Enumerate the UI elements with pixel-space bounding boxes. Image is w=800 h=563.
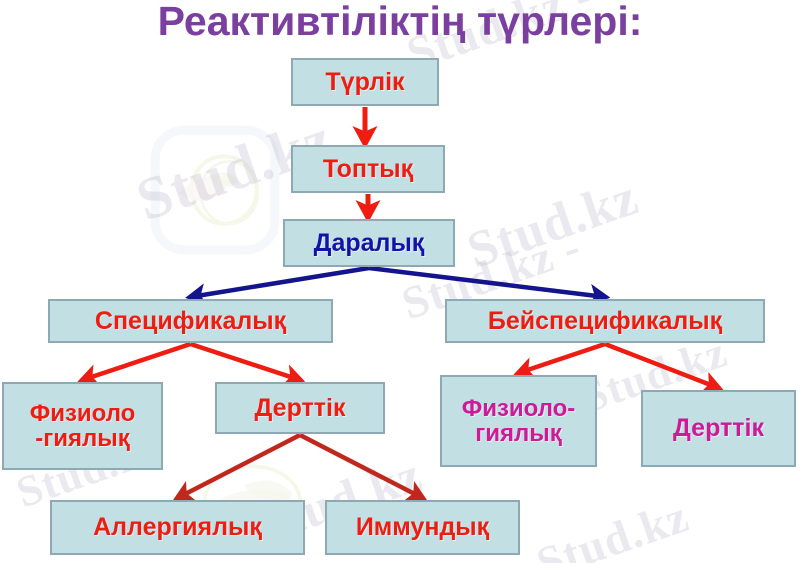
arrow-spetsifikalyk-to-derttik	[191, 344, 301, 380]
arrow-daralyk-to-spetsifikalyk	[191, 268, 370, 297]
node-label: Дерттік	[255, 395, 346, 421]
node-fiziologiyalyk-r[interactable]: Физиоло-гиялық	[440, 375, 597, 467]
arrow-beyspetsifikalyk-to-derttik	[605, 344, 719, 388]
arrow-spetsifikalyk-to-fiziologiya	[83, 344, 191, 380]
watermark-text: Stud.kz	[530, 489, 695, 563]
arrow-derttik-to-immundyk	[300, 435, 423, 498]
node-label: Дерттік	[673, 415, 764, 441]
node-immundyk[interactable]: Иммундық	[325, 500, 520, 555]
node-turlik[interactable]: Түрлік	[291, 58, 439, 106]
node-derttik-r[interactable]: Дерттік	[641, 390, 796, 467]
node-derttik-l[interactable]: Дерттік	[215, 382, 385, 434]
node-allergiyalyk[interactable]: Аллергиялық	[50, 500, 305, 555]
page-title: Реактивтіліктің түрлері:	[0, 0, 800, 45]
node-fiziologiyalyk-l[interactable]: Физиоло-гиялық	[2, 382, 163, 470]
node-toptyk[interactable]: Топтық	[291, 145, 445, 193]
watermark-text: Stud.kz	[460, 168, 646, 281]
arrow-daralyk-to-beyspetsifikalyk	[369, 268, 605, 297]
node-label: Даралық	[314, 230, 425, 256]
node-spetsifikalyk[interactable]: Спецификалық	[48, 299, 333, 343]
node-label: Топтық	[323, 156, 413, 182]
node-label: Бейспецификалық	[488, 308, 722, 334]
node-label: Аллергиялық	[93, 514, 262, 540]
diagram-canvas: Stud.kz Stud.kz - Stud.kz Stud.kz - Stud…	[0, 0, 800, 563]
node-beyspetsifikalyk[interactable]: Бейспецификалық	[445, 299, 765, 343]
arrow-beyspetsifikalyk-to-fiziologiya	[519, 344, 606, 373]
node-label: Физиоло-гиялық	[462, 396, 576, 446]
arrow-derttik-to-allergiyalyk	[178, 435, 301, 498]
node-label: Иммундық	[356, 514, 489, 540]
stud-kz-logo-icon	[150, 125, 280, 255]
node-label: Физиоло-гиялық	[30, 401, 136, 451]
node-label: Спецификалық	[95, 308, 286, 334]
node-daralyk[interactable]: Даралық	[283, 219, 455, 267]
node-label: Түрлік	[325, 69, 404, 95]
